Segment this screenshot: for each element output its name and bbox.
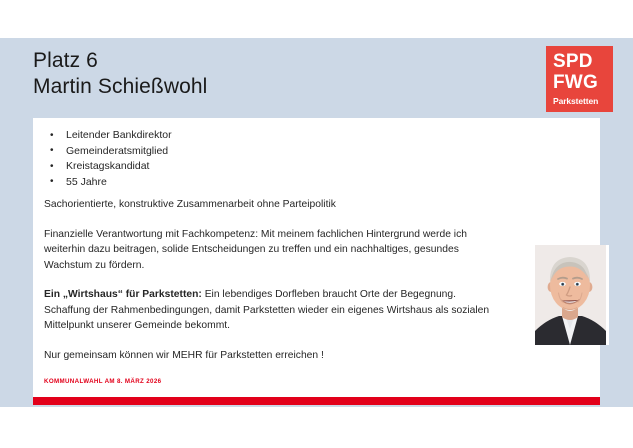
statement-paragraph-1: Sachorientierte, konstruktive Zusammenar… xyxy=(44,197,496,213)
logo-line-parkstetten: Parkstetten xyxy=(553,95,613,107)
list-item: Gemeinderatsmitglied xyxy=(41,144,481,160)
logo-line-fwg: FWG xyxy=(553,72,613,93)
campaign-slide: Platz 6 Martin Schießwohl SPD FWG Parkst… xyxy=(0,0,633,448)
candidate-portrait-photo xyxy=(532,245,609,345)
page-title: Platz 6 Martin Schießwohl xyxy=(33,48,513,100)
spd-fwg-logo: SPD FWG Parkstetten xyxy=(546,46,613,112)
statement-paragraph-3: Ein „Wirtshaus“ für Parkstetten: Ein leb… xyxy=(44,287,496,334)
candidate-rank: Platz 6 xyxy=(33,48,513,74)
list-item: 55 Jahre xyxy=(41,175,481,191)
red-accent-bar xyxy=(33,397,600,405)
candidate-statement-text: Sachorientierte, konstruktive Zusammenar… xyxy=(44,197,496,363)
statement-paragraph-3-lead: Ein „Wirtshaus“ für Parkstetten: xyxy=(44,289,202,300)
candidate-facts-list: Leitender Bankdirektor Gemeinderatsmitgl… xyxy=(41,128,481,190)
content-card: Leitender Bankdirektor Gemeinderatsmitgl… xyxy=(33,118,600,397)
statement-paragraph-2: Finanzielle Verantwortung mit Fachkompet… xyxy=(44,227,496,274)
list-item: Leitender Bankdirektor xyxy=(41,128,481,144)
election-date-note: KOMMUNALWAHL AM 8. MÄRZ 2026 xyxy=(44,378,161,385)
list-item: Kreistagskandidat xyxy=(41,159,481,175)
logo-line-spd: SPD xyxy=(553,51,613,72)
statement-paragraph-4: Nur gemeinsam können wir MEHR für Parkst… xyxy=(44,348,496,364)
candidate-name: Martin Schießwohl xyxy=(33,74,513,100)
